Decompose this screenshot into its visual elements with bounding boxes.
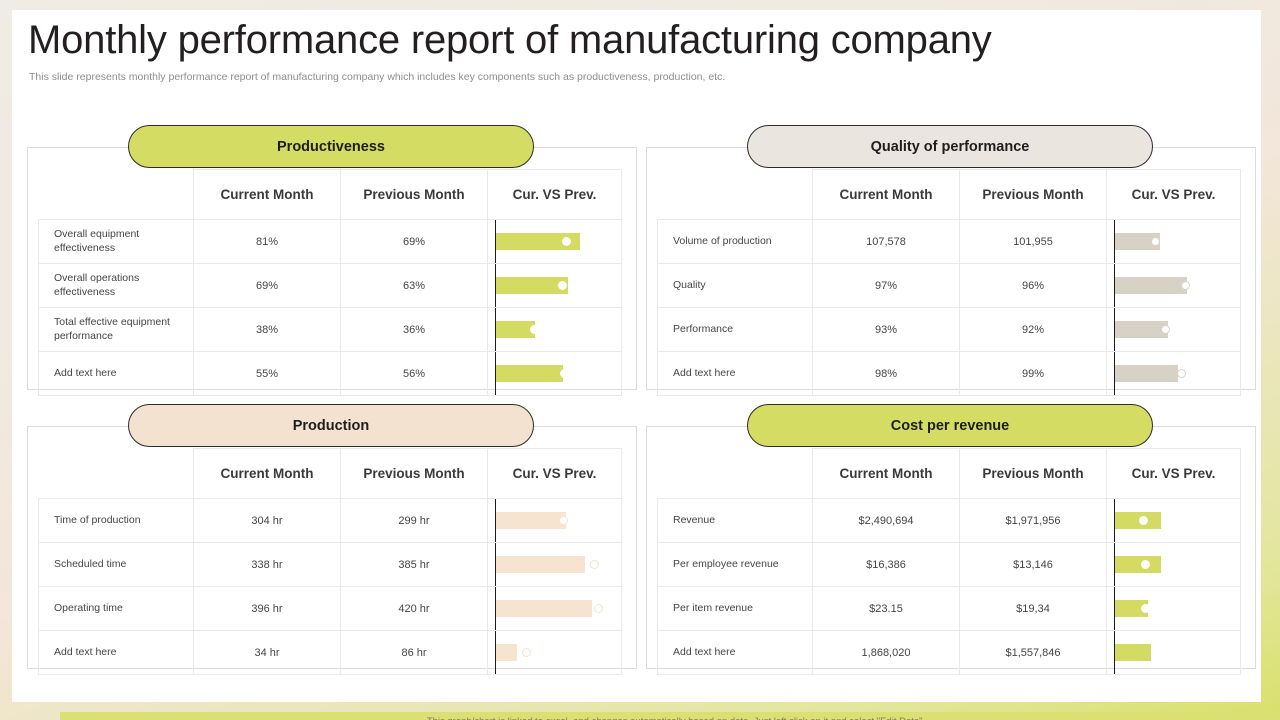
current-month-value: 38% [194,308,341,352]
previous-month-marker [590,560,599,569]
row-label: Add text here [39,631,194,675]
metrics-table: Current MonthPrevious MonthCur. VS Prev.… [38,169,622,396]
previous-month-value: 56% [341,352,488,396]
table-header-row: Current MonthPrevious MonthCur. VS Prev. [658,449,1241,499]
comparison-bar-cell [488,631,622,675]
table-row: Per employee revenue$16,386$13,146 [658,543,1241,587]
current-month-value: 1,868,020 [813,631,960,675]
previous-month-marker [594,604,603,613]
comparison-bar-cell [488,352,622,396]
current-month-value: $2,490,694 [813,499,960,543]
current-month-value: 107,578 [813,220,960,264]
panel-title-pill[interactable]: Productiveness [128,125,534,168]
slide-background: Monthly performance report of manufactur… [0,0,1280,720]
table-row: Volume of production107,578101,955 [658,220,1241,264]
previous-month-marker [1151,237,1160,246]
previous-month-marker [1181,281,1190,290]
chart-axis-line [495,543,496,586]
previous-month-value: $13,146 [960,543,1107,587]
column-header-previous-month: Previous Month [341,170,488,220]
previous-month-value: 69% [341,220,488,264]
previous-month-value: $1,971,956 [960,499,1107,543]
current-month-bar [1115,277,1187,294]
current-month-value: 338 hr [194,543,341,587]
chart-axis-line [1114,352,1115,395]
chart-axis-line [495,308,496,351]
current-month-value: $16,386 [813,543,960,587]
chart-axis-line [495,587,496,630]
table-row: Overall equipment effectiveness81%69% [39,220,622,264]
row-label: Time of production [39,499,194,543]
table-row: Quality97%96% [658,264,1241,308]
column-header-previous-month: Previous Month [960,449,1107,499]
current-month-bar [496,512,566,529]
previous-month-marker [558,281,567,290]
comparison-bar-cell [488,264,622,308]
table-row: Operating time396 hr420 hr [39,587,622,631]
previous-month-marker [1141,604,1150,613]
chart-axis-line [1114,543,1115,586]
column-header-cur-vs-prev-: Cur. VS Prev. [488,449,622,499]
row-label: Per item revenue [658,587,813,631]
footer-note: This graph/chart is linked to excel, and… [60,712,1280,720]
table-row: Add text here98%99% [658,352,1241,396]
previous-month-value: 63% [341,264,488,308]
current-month-bar [496,600,592,617]
row-label: Per employee revenue [658,543,813,587]
table-row: Scheduled time338 hr385 hr [39,543,622,587]
panel-title-pill[interactable]: Cost per revenue [747,404,1153,447]
column-header-previous-month: Previous Month [341,449,488,499]
row-label: Scheduled time [39,543,194,587]
previous-month-marker [530,325,539,334]
comparison-bar-cell [1107,308,1241,352]
column-header-current-month: Current Month [194,170,341,220]
chart-axis-line [1114,631,1115,674]
current-month-bar [496,556,585,573]
panel-title-pill[interactable]: Production [128,404,534,447]
table-row: Performance93%92% [658,308,1241,352]
comparison-bar-cell [1107,220,1241,264]
comparison-bar-cell [488,308,622,352]
column-header-blank [658,449,813,499]
comparison-bar-cell [488,499,622,543]
table-row: Add text here55%56% [39,352,622,396]
current-month-bar [1115,556,1161,573]
table-row: Overall operations effectiveness69%63% [39,264,622,308]
panel-productiveness: ProductivenessCurrent MonthPrevious Mont… [27,147,637,390]
row-label: Overall equipment effectiveness [39,220,194,264]
panel-production: ProductionCurrent MonthPrevious MonthCur… [27,426,637,669]
column-header-cur-vs-prev-: Cur. VS Prev. [488,170,622,220]
panel-title-pill[interactable]: Quality of performance [747,125,1153,168]
chart-axis-line [495,631,496,674]
current-month-value: 55% [194,352,341,396]
page-title: Monthly performance report of manufactur… [28,18,1228,63]
current-month-value: 97% [813,264,960,308]
previous-month-marker [1139,516,1148,525]
chart-axis-line [1114,499,1115,542]
column-header-current-month: Current Month [194,449,341,499]
chart-axis-line [1114,587,1115,630]
panel-quality-of-performance: Quality of performanceCurrent MonthPrevi… [646,147,1256,390]
column-header-current-month: Current Month [813,449,960,499]
current-month-bar [496,644,517,661]
current-month-value: 34 hr [194,631,341,675]
row-label: Total effective equipment performance [39,308,194,352]
row-label: Overall operations effectiveness [39,264,194,308]
row-label: Add text here [658,631,813,675]
previous-month-marker [1161,648,1170,657]
current-month-value: 304 hr [194,499,341,543]
previous-month-value: 99% [960,352,1107,396]
table-row: Add text here34 hr86 hr [39,631,622,675]
comparison-bar-cell [488,587,622,631]
current-month-bar [1115,365,1178,382]
chart-axis-line [495,220,496,263]
table-header-row: Current MonthPrevious MonthCur. VS Prev. [39,170,622,220]
column-header-cur-vs-prev-: Cur. VS Prev. [1107,449,1241,499]
previous-month-marker [1141,560,1150,569]
previous-month-value: 101,955 [960,220,1107,264]
previous-month-marker [1177,369,1186,378]
metrics-table: Current MonthPrevious MonthCur. VS Prev.… [657,448,1241,675]
current-month-value: 69% [194,264,341,308]
previous-month-value: 92% [960,308,1107,352]
current-month-value: 93% [813,308,960,352]
column-header-previous-month: Previous Month [960,170,1107,220]
previous-month-value: 86 hr [341,631,488,675]
comparison-bar-cell [1107,587,1241,631]
table-row: Revenue$2,490,694$1,971,956 [658,499,1241,543]
row-label: Quality [658,264,813,308]
metrics-table: Current MonthPrevious MonthCur. VS Prev.… [38,448,622,675]
current-month-value: 98% [813,352,960,396]
slide-canvas: Monthly performance report of manufactur… [12,10,1261,702]
table-header-row: Current MonthPrevious MonthCur. VS Prev. [658,170,1241,220]
previous-month-marker [1161,325,1170,334]
table-row: Add text here1,868,020$1,557,846 [658,631,1241,675]
chart-axis-line [495,264,496,307]
column-header-blank [39,449,194,499]
current-month-bar [496,365,563,382]
table-row: Per item revenue$23.15$19,34 [658,587,1241,631]
current-month-value: $23.15 [813,587,960,631]
row-label: Volume of production [658,220,813,264]
row-label: Add text here [39,352,194,396]
comparison-bar-cell [488,220,622,264]
previous-month-value: 385 hr [341,543,488,587]
panel-cost-per-revenue: Cost per revenueCurrent MonthPrevious Mo… [646,426,1256,669]
footer-bar: This graph/chart is linked to excel, and… [60,712,1280,720]
previous-month-marker [560,369,569,378]
table-header-row: Current MonthPrevious MonthCur. VS Prev. [39,449,622,499]
comparison-bar-cell [488,543,622,587]
chart-axis-line [1114,220,1115,263]
previous-month-marker [522,648,531,657]
row-label: Add text here [658,352,813,396]
previous-month-value: $19,34 [960,587,1107,631]
comparison-bar-cell [1107,631,1241,675]
previous-month-marker [562,237,571,246]
chart-axis-line [495,352,496,395]
metrics-table: Current MonthPrevious MonthCur. VS Prev.… [657,169,1241,396]
row-label: Operating time [39,587,194,631]
current-month-bar [1115,644,1151,661]
previous-month-value: $1,557,846 [960,631,1107,675]
table-row: Time of production304 hr299 hr [39,499,622,543]
previous-month-value: 36% [341,308,488,352]
column-header-blank [39,170,194,220]
page-subtitle: This slide represents monthly performanc… [29,71,1209,83]
chart-axis-line [1114,308,1115,351]
comparison-bar-cell [1107,543,1241,587]
table-row: Total effective equipment performance38%… [39,308,622,352]
column-header-current-month: Current Month [813,170,960,220]
current-month-value: 396 hr [194,587,341,631]
chart-axis-line [1114,264,1115,307]
row-label: Revenue [658,499,813,543]
previous-month-value: 96% [960,264,1107,308]
row-label: Performance [658,308,813,352]
previous-month-marker [559,516,568,525]
comparison-bar-cell [1107,352,1241,396]
comparison-bar-cell [1107,499,1241,543]
column-header-blank [658,170,813,220]
chart-axis-line [495,499,496,542]
column-header-cur-vs-prev-: Cur. VS Prev. [1107,170,1241,220]
previous-month-value: 420 hr [341,587,488,631]
previous-month-value: 299 hr [341,499,488,543]
comparison-bar-cell [1107,264,1241,308]
current-month-value: 81% [194,220,341,264]
